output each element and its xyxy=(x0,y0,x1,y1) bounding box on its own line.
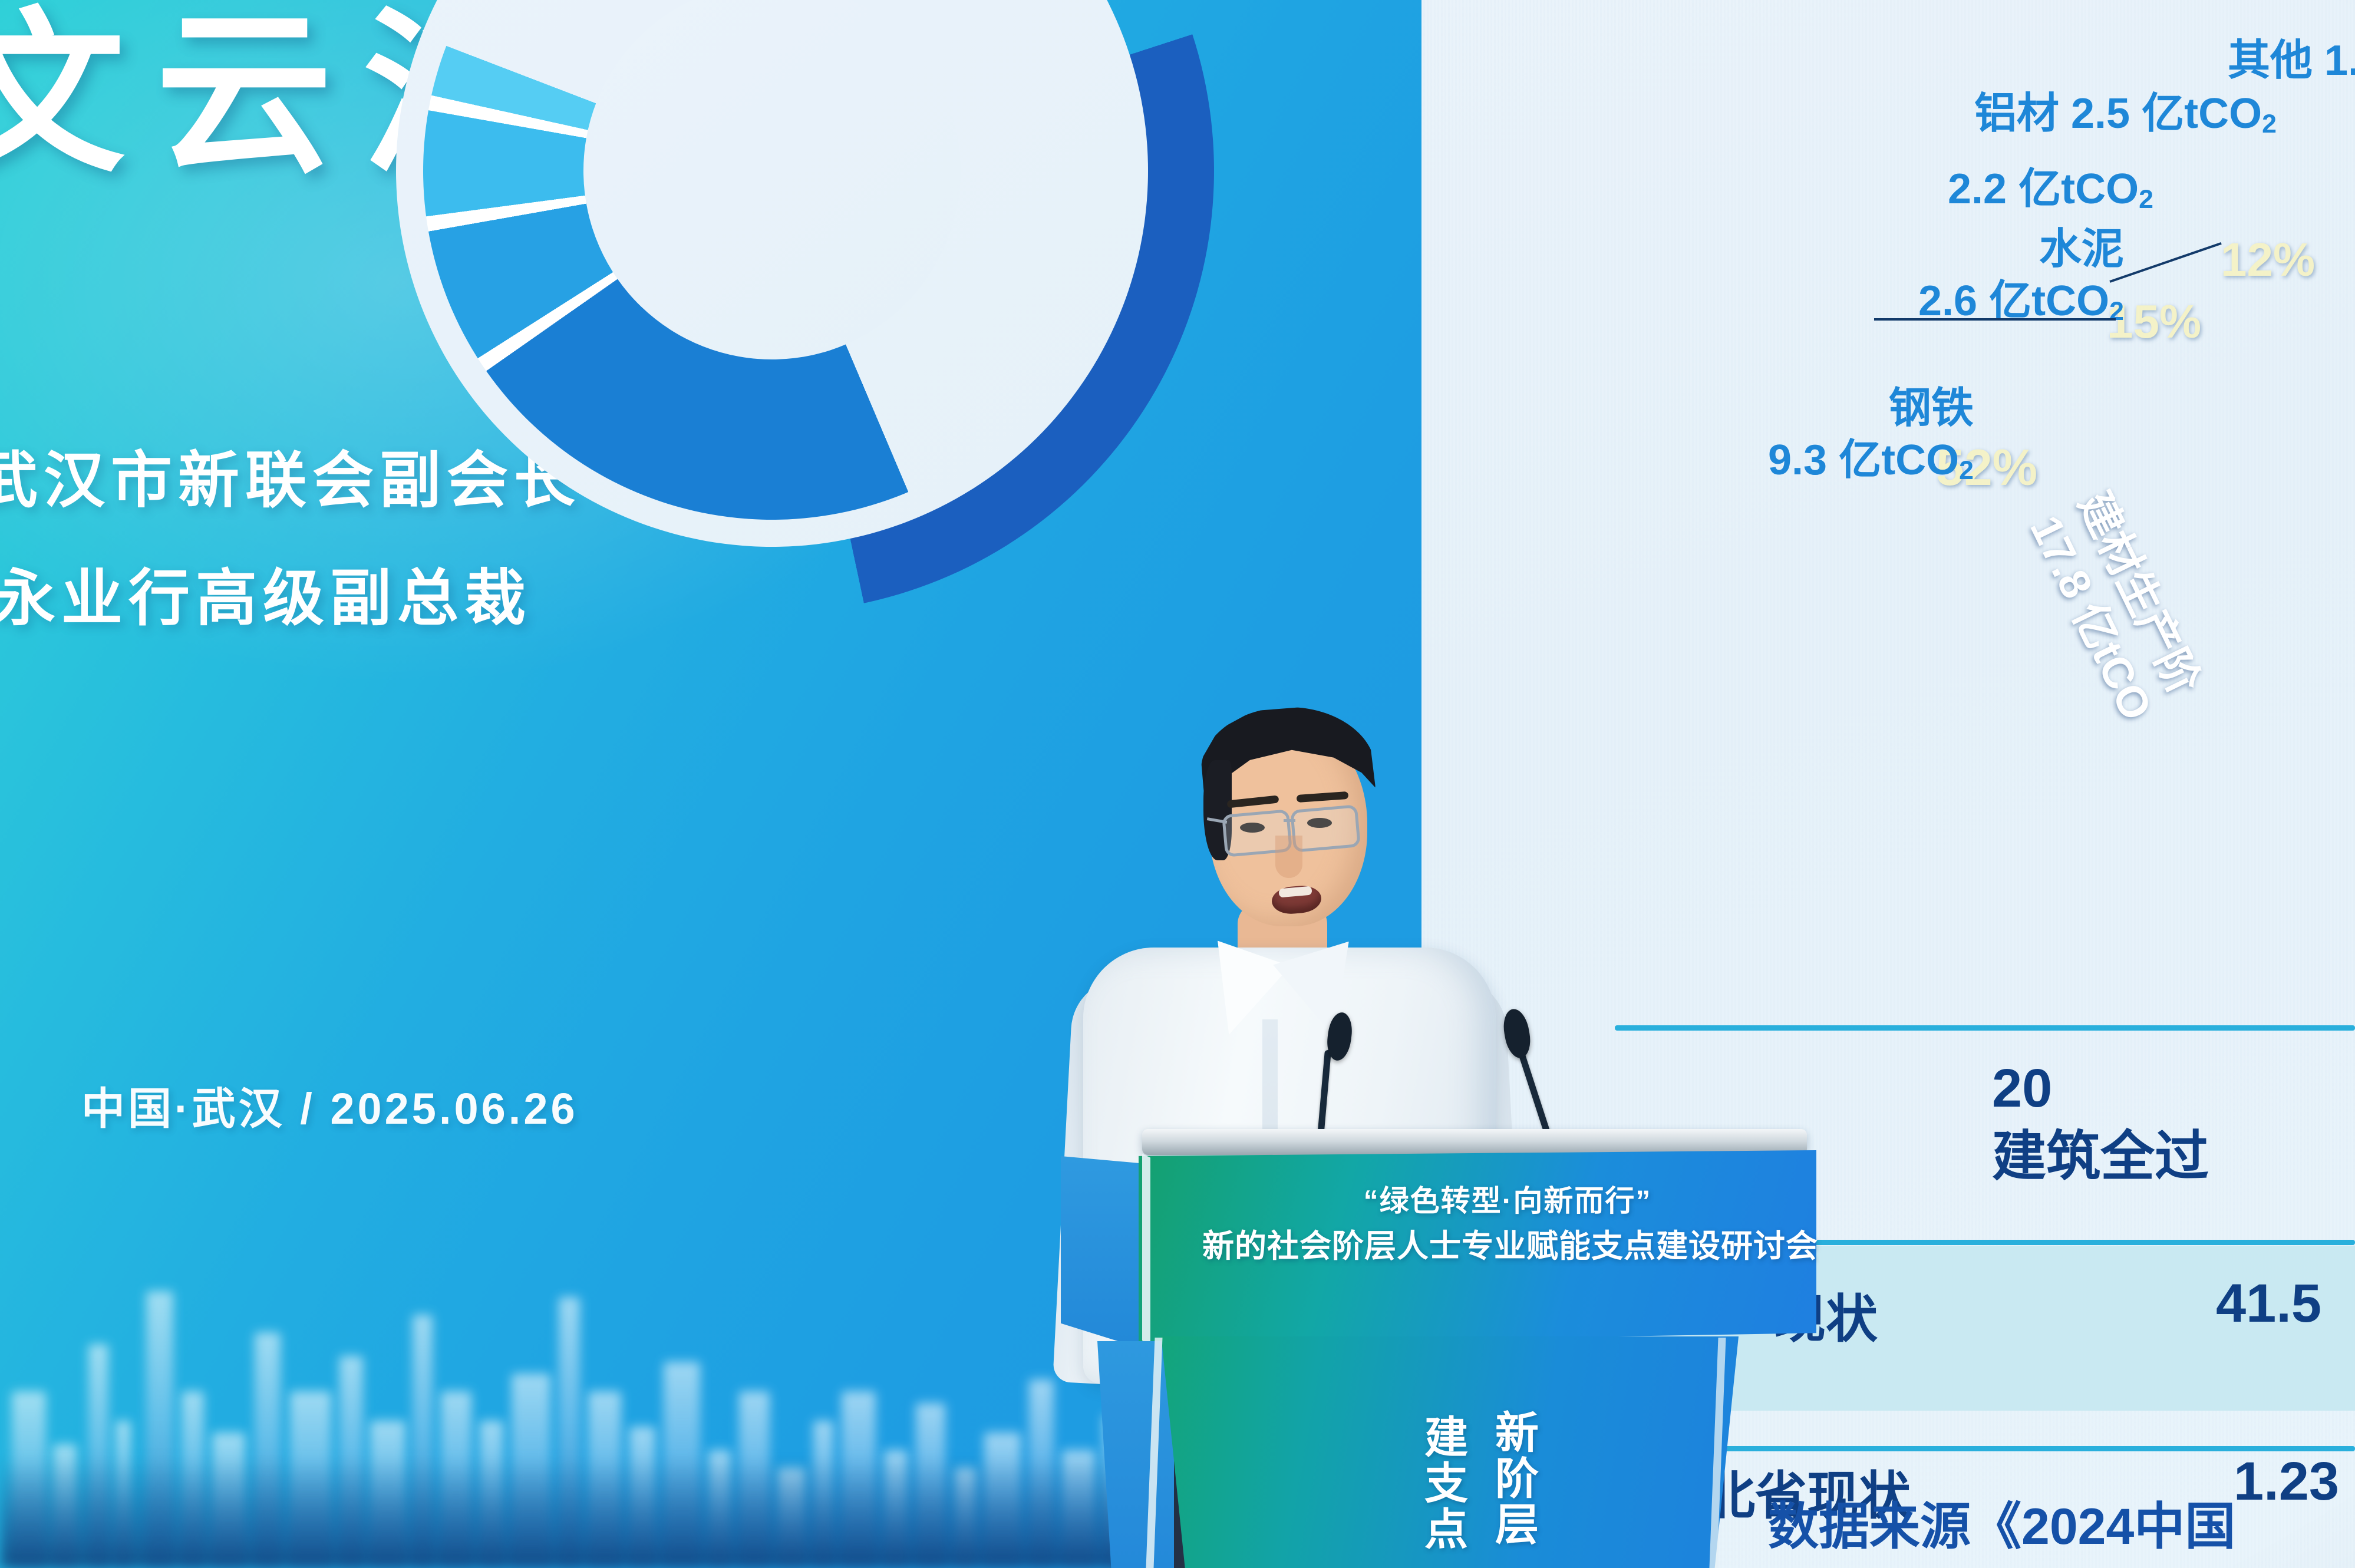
podium-vertical-text-left: 建支点 xyxy=(1419,1414,1465,1552)
glasses-bridge xyxy=(1284,819,1295,822)
slice-percent-aluminium: 12% xyxy=(2221,233,2315,287)
callout-leader-line xyxy=(1874,318,2116,321)
slide-table-heading-line-2: 建筑全过 xyxy=(1992,1123,2209,1191)
callout-steel-value: 9.3 亿tCO xyxy=(1768,437,1959,484)
podium-edge-stripe xyxy=(1142,1154,1150,1348)
presentation-photo: 文云波 武汉市新联会副会长 永业行高级副总裁 中国·武汉 / 2025.06.2… xyxy=(0,0,2355,1568)
callout-steel-name: 钢铁 xyxy=(1889,385,1974,432)
callout-aluminium-second: 2.2 亿tCO2 xyxy=(1948,164,2153,216)
slide-table-heading: 20 建筑全过 xyxy=(1992,1055,2209,1191)
callout-other-name: 其他 xyxy=(2228,37,2313,84)
callout-other: 其他 1. xyxy=(2228,35,2355,87)
podium-event-title: 新的社会阶层人士专业赋能支点建设研讨会 xyxy=(1202,1220,1792,1266)
podium-side-panel xyxy=(1061,1156,1148,1351)
pie-chart xyxy=(330,0,1214,613)
callout-cement-name: 水泥 xyxy=(2039,226,2124,273)
podium-desktop-edge xyxy=(1142,1129,1807,1155)
place-and-date: 中国·武汉 / 2025.06.26 xyxy=(81,1074,578,1137)
callout-cement: 水泥 2.6 亿tCO2 xyxy=(1918,224,2124,328)
callout-steel: 钢铁 9.3 亿tCO2 xyxy=(1768,383,1974,487)
podium-quote: “绿色转型·向新而行” xyxy=(1284,1177,1731,1220)
callout-aluminium-second-text: 2.2 亿tCO xyxy=(1948,166,2139,213)
slide-divider-top xyxy=(1615,1025,2355,1031)
speaker-nose xyxy=(1275,836,1302,878)
podium-vertical-text-right: 新阶层 xyxy=(1490,1409,1536,1547)
table-row-value-hubei: 1.23 xyxy=(2234,1451,2339,1513)
table-row-value-current: 41.5 xyxy=(2216,1273,2321,1335)
callout-other-value: 1. xyxy=(2324,37,2355,84)
callout-aluminium-text: 铝材 2.5 亿tCO xyxy=(1974,90,2262,137)
callout-cement-value: 2.6 亿tCO xyxy=(1918,278,2109,325)
slide-table-heading-line-1: 20 xyxy=(1992,1055,2209,1123)
slide-data-source: 数据来源《2024中国 xyxy=(1768,1485,2235,1559)
callout-aluminium: 铝材 2.5 亿tCO2 xyxy=(1974,88,2277,140)
